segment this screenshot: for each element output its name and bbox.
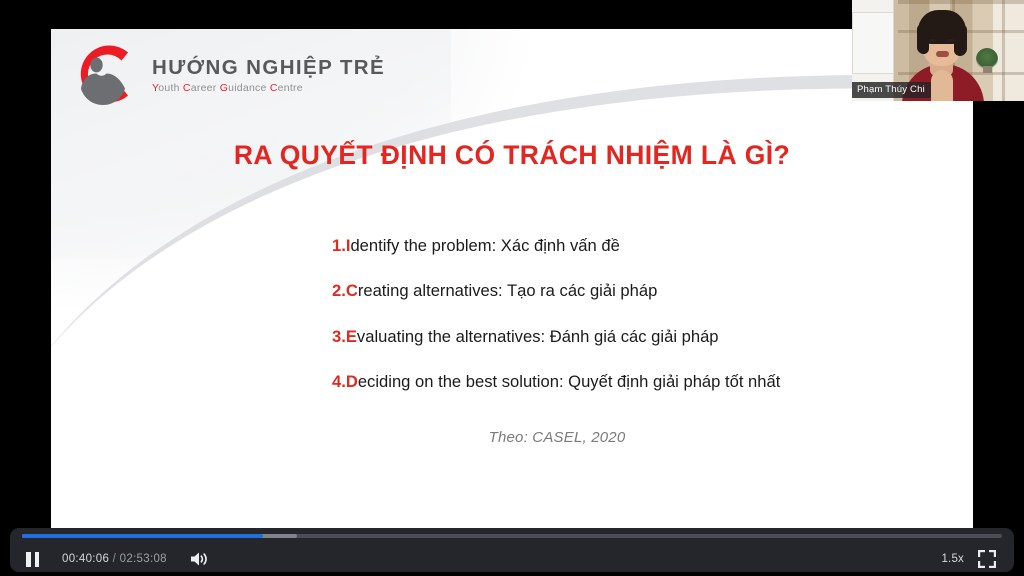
- video-player-stage: HƯỚNG NGHIỆP TRẺ Youth Career Guidance C…: [0, 0, 1024, 576]
- pause-icon-bar-left: [26, 552, 31, 567]
- logo-subtitle-part-6: C: [270, 82, 278, 94]
- person-chest: [931, 70, 953, 101]
- slide-title: RA QUYẾT ĐỊNH CÓ TRÁCH NHIỆM LÀ GÌ?: [51, 140, 973, 171]
- shelf-divider: [1002, 0, 1005, 101]
- person-eye-right: [947, 39, 954, 42]
- bullet-text-3: valuating the alternatives: Đánh giá các…: [357, 327, 719, 346]
- volume-button[interactable]: [189, 550, 209, 568]
- bullet-item-1: 1.Identify the problem: Xác định vấn đề: [332, 236, 932, 256]
- bullet-marker-1: 1.I: [332, 236, 350, 255]
- slide-bullet-list: 1.Identify the problem: Xác định vấn đề2…: [332, 236, 932, 418]
- progress-bar[interactable]: [22, 534, 1002, 538]
- logo-text-block: HƯỚNG NGHIỆP TRẺ Youth Career Guidance C…: [152, 51, 385, 96]
- logo-subtitle-part-7: entre: [278, 82, 303, 94]
- time-display: 00:40:06 / 02:53:08: [62, 553, 167, 565]
- volume-icon: [189, 550, 209, 568]
- shelf-line: [898, 0, 1024, 4]
- slide-source-credit: Theo: CASEL, 2020: [51, 429, 973, 446]
- bullet-marker-4: 4.D: [332, 372, 358, 391]
- bullet-item-2: 2.Creating alternatives: Tạo ra các giải…: [332, 281, 932, 301]
- bullet-text-1: dentify the problem: Xác định vấn đề: [350, 236, 619, 255]
- bullet-text-2: reating alternatives: Tạo ra các giải ph…: [358, 281, 657, 300]
- hnt-c-logo-icon: [66, 37, 140, 111]
- organization-logo: HƯỚNG NGHIỆP TRẺ Youth Career Guidance C…: [66, 37, 385, 111]
- person-mouth: [936, 51, 949, 57]
- bullet-marker-3: 3.E: [332, 327, 357, 346]
- time-separator: /: [113, 553, 117, 565]
- exit-fullscreen-icon: [978, 550, 996, 568]
- person-hair-left: [917, 24, 929, 54]
- pause-button[interactable]: [26, 551, 42, 567]
- pause-icon-bar-right: [35, 552, 40, 567]
- bullet-item-3: 3.Evaluating the alternatives: Đánh giá …: [332, 327, 932, 347]
- presentation-slide: HƯỚNG NGHIỆP TRẺ Youth Career Guidance C…: [51, 29, 973, 528]
- participant-name-label: Phạm Thúy Chi: [852, 82, 931, 98]
- player-control-bar: 00:40:06 / 02:53:08 1.5x: [10, 528, 1014, 572]
- exit-fullscreen-button[interactable]: [978, 550, 996, 568]
- logo-subtitle: Youth Career Guidance Centre: [152, 81, 385, 97]
- logo-title: HƯỚNG NGHIỆP TRẺ: [152, 57, 385, 79]
- logo-subtitle-part-3: areer: [191, 82, 220, 94]
- bullet-item-4: 4.Deciding on the best solution: Quyết đ…: [332, 372, 932, 392]
- whiteboard: [852, 12, 894, 74]
- person-eye-left: [929, 39, 936, 42]
- current-time: 00:40:06: [62, 553, 109, 565]
- logo-subtitle-part-1: outh: [158, 82, 183, 94]
- control-right-group: 1.5x: [941, 550, 996, 568]
- playback-speed-button[interactable]: 1.5x: [941, 553, 964, 565]
- logo-subtitle-part-2: C: [183, 82, 191, 94]
- control-row: 00:40:06 / 02:53:08 1.5x: [10, 546, 1014, 572]
- webcam-overlay[interactable]: Phạm Thúy Chi: [852, 0, 1024, 101]
- total-time: 02:53:08: [120, 553, 167, 565]
- logo-subtitle-part-5: uidance: [228, 82, 270, 94]
- logo-subtitle-part-4: G: [220, 82, 228, 94]
- bullet-text-4: eciding on the best solution: Quyết định…: [358, 372, 781, 391]
- person-hair-right: [954, 24, 967, 56]
- bullet-marker-2: 2.C: [332, 281, 358, 300]
- progress-played: [22, 534, 263, 538]
